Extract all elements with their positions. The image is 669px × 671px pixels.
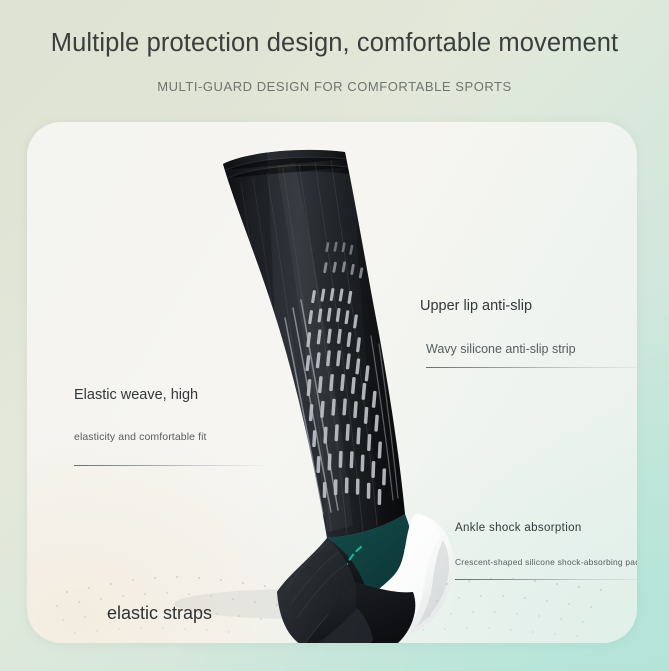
- callout-title: Upper lip anti-slip: [420, 298, 637, 314]
- page-title: Multiple protection design, comfortable …: [0, 28, 669, 60]
- callout-elastic-weave: Elastic weave, high elasticity and comfo…: [74, 387, 270, 466]
- callout-subtitle: Crescent-shaped silicone shock-absorbing…: [455, 557, 637, 567]
- silicone-shock-pad: [366, 514, 454, 636]
- callout-title: Ankle shock absorption: [455, 522, 637, 534]
- callout-elastic-straps: elastic straps Elastic strap compression…: [107, 603, 296, 643]
- callout-title: Elastic weave, high: [74, 387, 270, 403]
- callout-title: elastic straps: [107, 603, 296, 624]
- callout-subtitle: Wavy silicone anti-slip strip: [426, 342, 637, 356]
- callout-ankle-shock-absorption: Ankle shock absorption Crescent-shaped s…: [455, 522, 637, 580]
- silicone-pad-outline: [343, 547, 418, 622]
- feature-card: Upper lip anti-slip Wavy silicone anti-s…: [27, 122, 637, 643]
- callout-upper-lip-anti-slip: Upper lip anti-slip Wavy silicone anti-s…: [420, 298, 637, 368]
- callout-subtitle: elasticity and comfortable fit: [74, 431, 270, 443]
- page-subtitle: MULTI-GUARD DESIGN FOR COMFORTABLE SPORT…: [0, 79, 669, 94]
- callout-rule: [74, 465, 270, 466]
- callout-rule: [455, 579, 637, 580]
- callout-rule: [426, 367, 637, 368]
- header: Multiple protection design, comfortable …: [0, 28, 669, 94]
